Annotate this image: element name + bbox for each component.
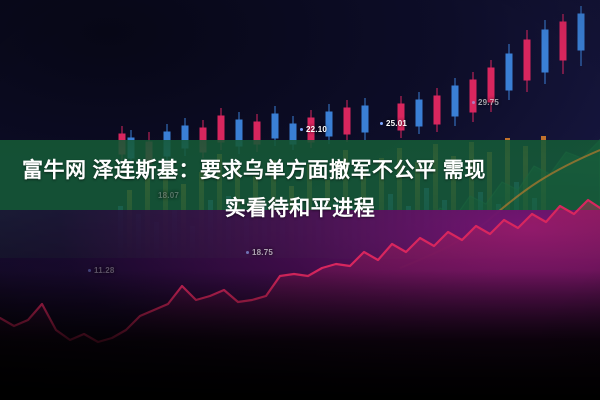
headline-text-block: 富牛网泽连斯基：要求乌单方面撤军不公平 需现 实看待和平进程	[0, 152, 600, 228]
brand-name: 富牛网	[22, 159, 87, 182]
thumbnail-canvas: 11.28 18.07 18.75 22.10 25.01 29.75 富牛网泽…	[0, 0, 600, 400]
marker-dot-icon	[88, 269, 91, 272]
headline-line-1: 富牛网泽连斯基：要求乌单方面撤军不公平 需现	[14, 152, 586, 190]
value-label-5: 25.01	[380, 119, 407, 128]
marker-dot-icon	[472, 101, 475, 104]
value-label-3: 18.75	[246, 248, 273, 257]
headline-main-1: 泽连斯基：要求乌单方面撤军不公平 需现	[93, 159, 486, 182]
bottom-fade-overlay	[0, 270, 600, 400]
headline-line-2: 实看待和平进程	[14, 190, 586, 228]
value-label-6: 29.75	[472, 98, 499, 107]
value-label-1: 11.28	[88, 266, 115, 275]
marker-dot-icon	[300, 128, 303, 131]
marker-dot-icon	[246, 251, 249, 254]
marker-dot-icon	[380, 122, 383, 125]
value-label-4: 22.10	[300, 125, 327, 134]
